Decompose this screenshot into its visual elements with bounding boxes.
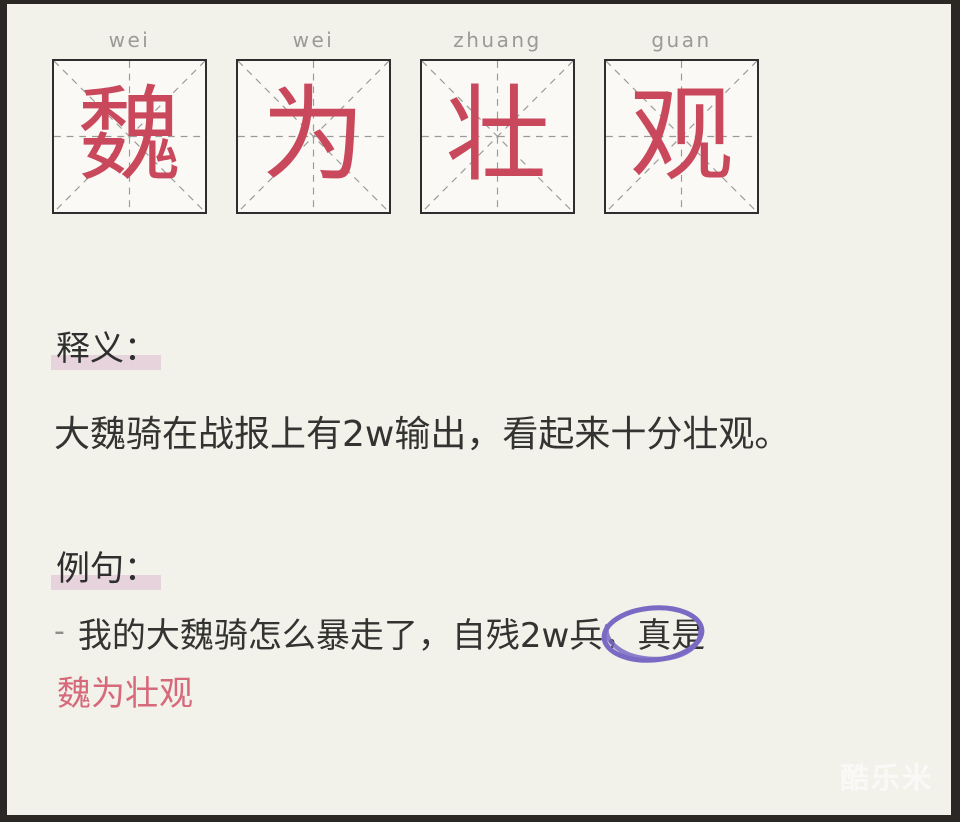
example-heading: 例句： bbox=[54, 552, 160, 586]
tianzige-box-1: 魏 bbox=[52, 59, 207, 214]
definition-heading: 释义： bbox=[54, 332, 160, 366]
example-sentence-text: 我的大魏骑怎么暴走了，自残2w兵，真是 bbox=[78, 616, 705, 657]
watermark: 酷乐米 bbox=[840, 764, 933, 793]
character-glyph-1: 魏 bbox=[54, 61, 205, 212]
pinyin-label-4: guan bbox=[651, 30, 711, 50]
tianzige-box-3: 壮 bbox=[420, 59, 575, 214]
character-cell-3[interactable]: zhuang 壮 bbox=[419, 30, 576, 214]
example-label: 例句： bbox=[56, 549, 158, 589]
character-cell-2[interactable]: wei 为 bbox=[235, 30, 392, 214]
pinyin-label-1: wei bbox=[109, 30, 151, 50]
character-glyph-4: 观 bbox=[606, 61, 757, 212]
example-sentence-line-1: - 我的大魏骑怎么暴走了，自残2w兵，真是 bbox=[54, 616, 705, 657]
bullet-dash-icon: - bbox=[54, 617, 65, 647]
definition-text: 大魏骑在战报上有2w输出，看起来十分壮观。 bbox=[54, 412, 790, 457]
character-card: wei 魏 wei 为 bbox=[0, 0, 960, 822]
tianzige-box-4: 观 bbox=[604, 59, 759, 214]
character-cell-4[interactable]: guan 观 bbox=[603, 30, 760, 214]
character-cell-1[interactable]: wei 魏 bbox=[51, 30, 208, 214]
character-glyph-2: 为 bbox=[238, 61, 389, 212]
pinyin-label-2: wei bbox=[293, 30, 335, 50]
example-sentence-line-2: 魏为壮观 bbox=[57, 674, 193, 715]
character-glyph-3: 壮 bbox=[422, 61, 573, 212]
definition-label: 释义： bbox=[56, 329, 158, 369]
tianzige-box-2: 为 bbox=[236, 59, 391, 214]
pinyin-label-3: zhuang bbox=[453, 30, 541, 50]
character-grid-row: wei 魏 wei 为 bbox=[51, 30, 760, 214]
